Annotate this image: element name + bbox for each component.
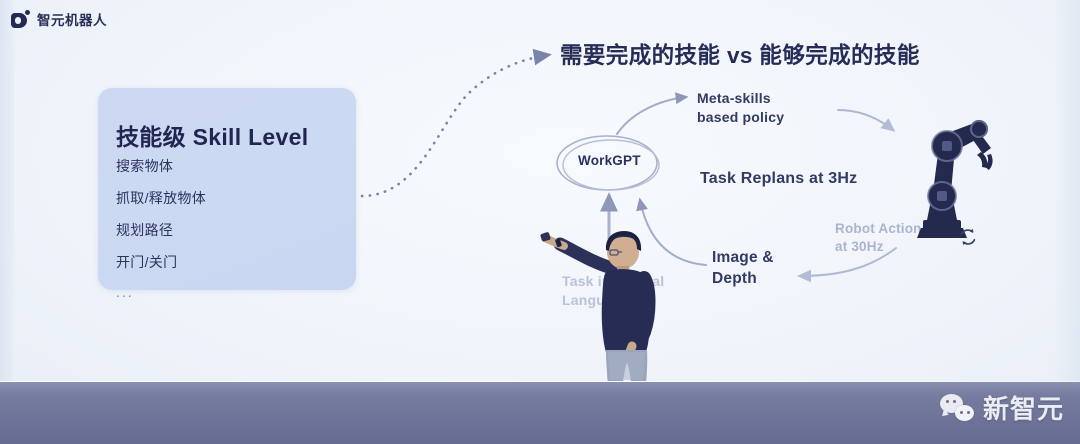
arrow-workgpt-to-metaskills [617, 97, 686, 134]
stage-floor [0, 382, 1080, 444]
robot-arm-icon [895, 108, 1005, 248]
slide-screenshot: 智元机器人 技能级 Skill Level 搜索物体 抓取/释放物体 规划路径 … [0, 0, 1080, 444]
refresh-loop-icon [957, 226, 979, 248]
watermark-text: 新智元 [983, 389, 1064, 426]
image-depth-label: Image & Depth [712, 248, 782, 290]
watermark: 新智元 [940, 389, 1064, 426]
workgpt-node-label: WorkGPT [578, 152, 641, 170]
task-replans-label: Task Replans at 3Hz [700, 168, 857, 190]
wechat-icon [940, 394, 974, 421]
pointing-arm [540, 232, 612, 268]
dotted-connector-arrow [362, 55, 548, 196]
arrow-metaskills-to-robot [838, 110, 893, 130]
meta-skills-label: Meta-skills based policy [697, 89, 815, 127]
